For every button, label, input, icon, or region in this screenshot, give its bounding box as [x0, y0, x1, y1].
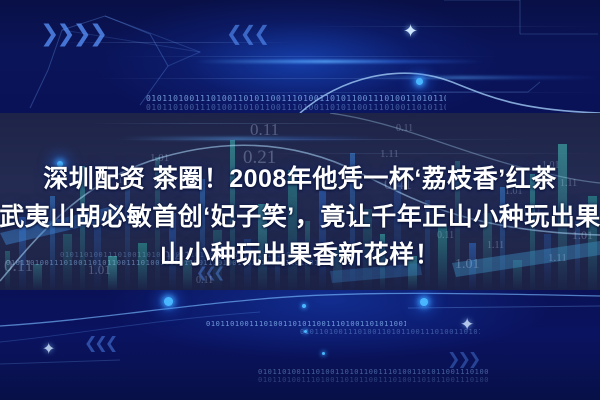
background-band-top: ❯❯❯❯ ❮❮❮ ✦ 01011010011101001101011001110… — [0, 0, 600, 113]
star-sparkle-icon: ✦ — [42, 342, 55, 358]
banner-image: ❯❯❯❯ ❮❮❮ ✦ 01011010011101001101011001110… — [0, 0, 600, 400]
headline-line-3: 山小种玩出果香新花样！ — [0, 236, 600, 274]
binary-strip: 0101101001110100110101100111010011010110… — [146, 103, 446, 112]
glow-node — [164, 297, 173, 306]
binary-strip: 0101101001110100110101100111010011010110… — [146, 94, 446, 103]
binary-strip: 0101101001110100110101100111010011010110… — [258, 368, 488, 376]
glow-node — [420, 298, 428, 306]
headline-line-1: 深圳配资 茶圈！2008年他凭一杯‘荔枝香’红茶 — [0, 160, 600, 198]
binary-strip: 0101101001110100110101100111010011010110… — [300, 328, 480, 336]
binary-strip: 0101101001110100110101100111010011010110… — [258, 376, 488, 384]
binary-strip: 0101101001110100110101100111010011010110… — [206, 320, 406, 328]
glow-node — [302, 304, 306, 308]
glow-node — [322, 352, 325, 355]
glow-node — [416, 78, 423, 85]
headline-block: 深圳配资 茶圈！2008年他凭一杯‘荔枝香’红茶 武夷山胡必敏首创‘妃子笑’，竟… — [0, 160, 600, 274]
background-band-bottom: 0101101001110100110101100111010011010110… — [0, 290, 600, 400]
headline-line-2: 武夷山胡必敏首创‘妃子笑’，竟让千年正山小种玩出果 — [0, 198, 600, 236]
chevron-left-icon: ❮❮❮ — [450, 352, 481, 368]
star-sparkle-icon: ✦ — [460, 316, 474, 333]
chevron-right-icon: ❮❮❮ — [84, 336, 115, 352]
